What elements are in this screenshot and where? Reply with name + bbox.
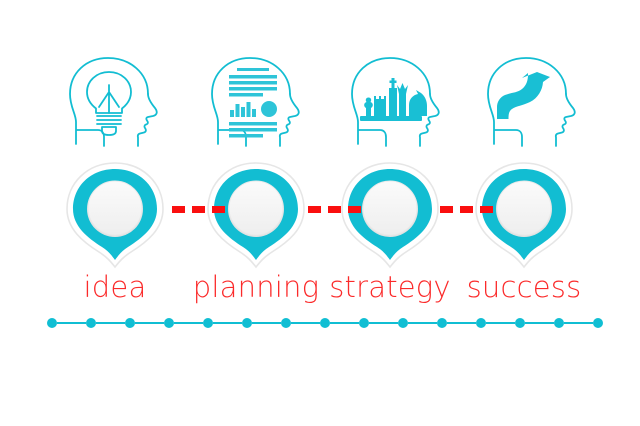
rail-dot <box>398 318 408 328</box>
rail-dot <box>203 318 213 328</box>
rail-dot <box>515 318 525 328</box>
head-icon-row <box>0 52 640 152</box>
rail-dot <box>47 318 57 328</box>
dash-segment <box>460 206 473 213</box>
step-pin-success[interactable] <box>468 160 580 270</box>
pin-row <box>0 160 640 270</box>
step-label-row: idea planning strategy success <box>0 270 640 310</box>
head-lightbulb-icon <box>60 52 170 152</box>
bottom-dotted-rail <box>0 313 640 333</box>
rail-dot <box>281 318 291 328</box>
step-label-success: success <box>444 270 604 304</box>
rail-dot <box>125 318 135 328</box>
dash-segment <box>328 206 341 213</box>
infographic-canvas: idea planning strategy success <box>0 0 640 426</box>
head-chess-pieces-icon <box>342 52 452 152</box>
head-growth-arrow-icon <box>478 52 588 152</box>
dash-segment <box>212 206 225 213</box>
step-pin-planning[interactable] <box>200 160 312 270</box>
rail-dot <box>320 318 330 328</box>
rail-dot <box>359 318 369 328</box>
rail-dot <box>86 318 96 328</box>
dash-connector-2-3 <box>308 206 360 213</box>
dash-segment <box>192 206 205 213</box>
dash-segment <box>308 206 321 213</box>
dash-segment <box>440 206 453 213</box>
dash-segment <box>348 206 361 213</box>
rail-dot <box>242 318 252 328</box>
rail-dot <box>437 318 447 328</box>
dash-connector-3-4 <box>440 206 492 213</box>
rail-dot <box>476 318 486 328</box>
step-pin-idea[interactable] <box>59 160 171 270</box>
head-report-chart-icon <box>202 52 312 152</box>
dash-connector-1-2 <box>172 206 224 213</box>
step-pin-strategy[interactable] <box>334 160 446 270</box>
rail-dot <box>554 318 564 328</box>
dash-segment <box>172 206 185 213</box>
rail-dot <box>164 318 174 328</box>
step-label-idea: idea <box>35 270 195 304</box>
rail-dot <box>593 318 603 328</box>
dash-segment <box>480 206 493 213</box>
